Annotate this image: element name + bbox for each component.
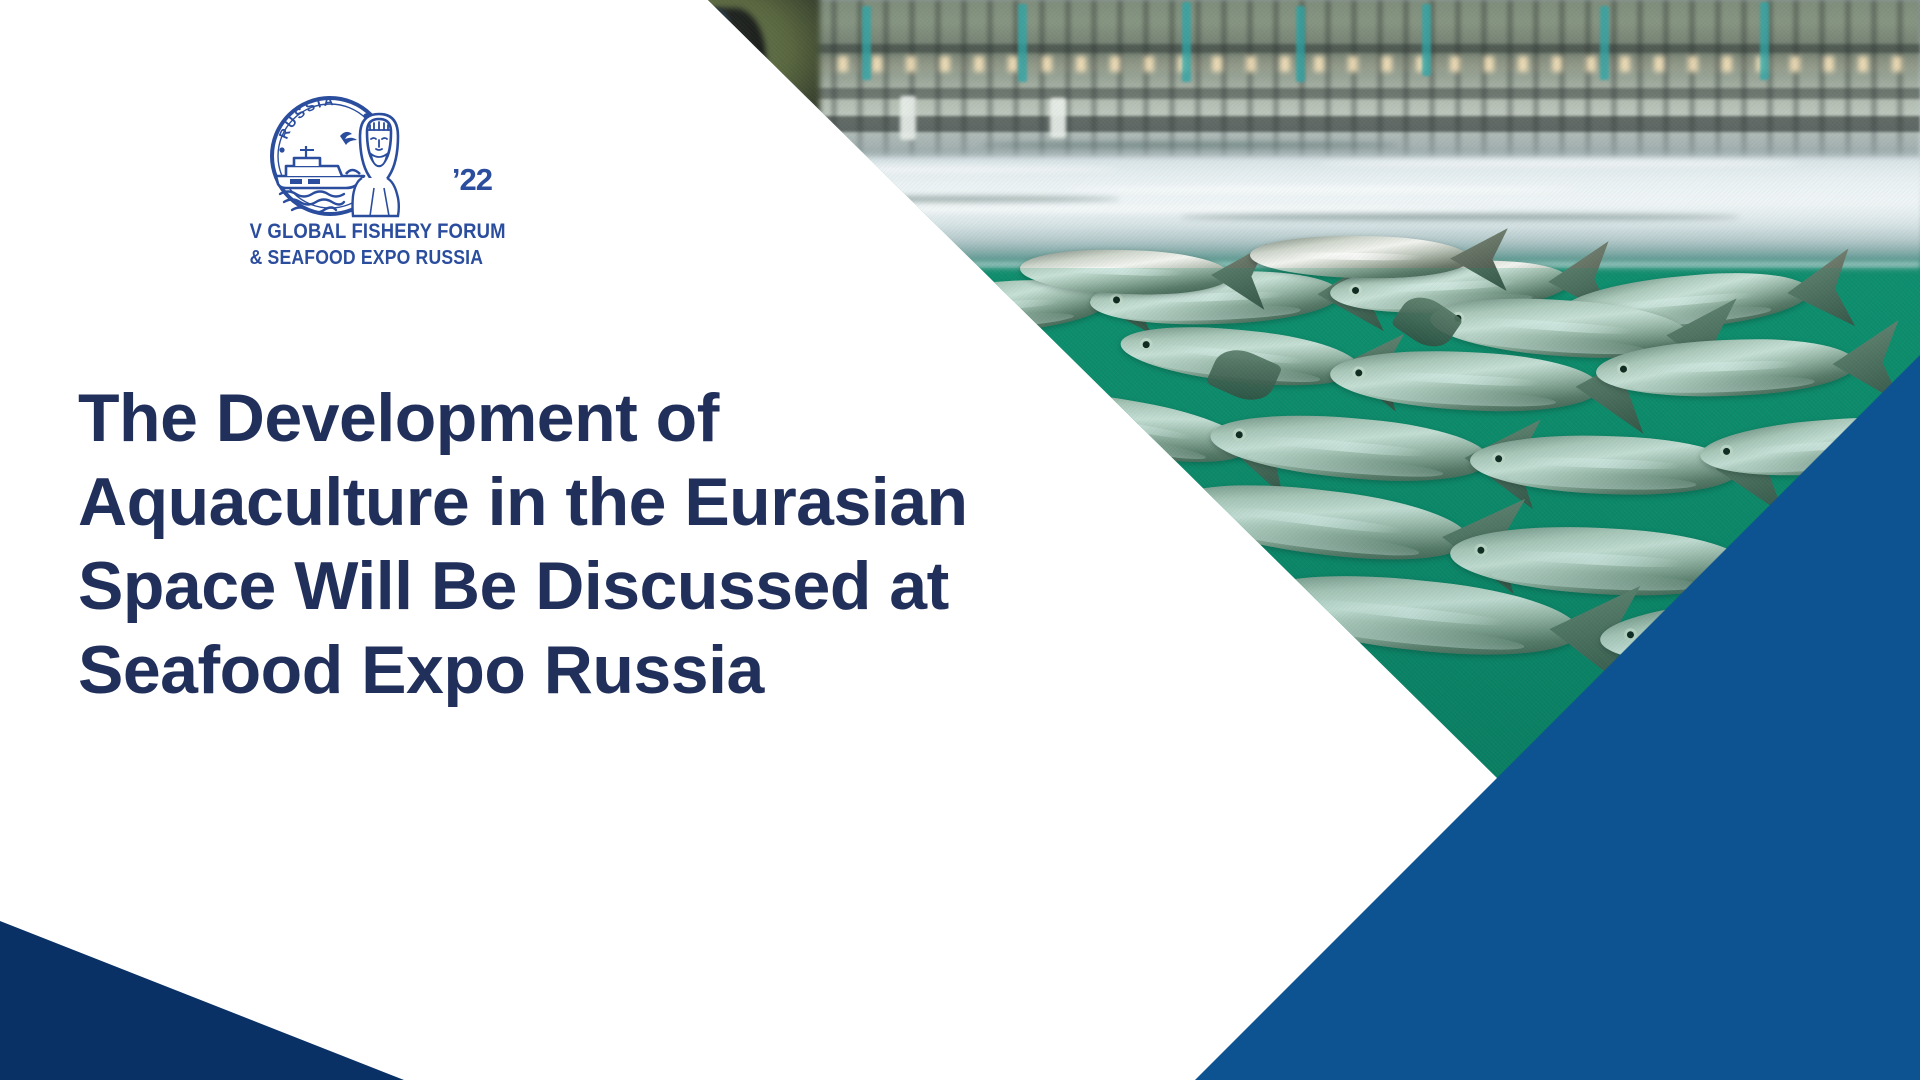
fishery-forum-emblem-icon: RUSSIA bbox=[234, 92, 444, 224]
white-post bbox=[1050, 98, 1066, 138]
fish-stripe bbox=[1058, 265, 1184, 276]
event-logo[interactable]: RUSSIA bbox=[234, 92, 494, 270]
logo-emblem: RUSSIA bbox=[234, 92, 494, 224]
white-post bbox=[900, 96, 916, 140]
fish-eye bbox=[1349, 284, 1363, 298]
fish-stripe bbox=[1379, 371, 1541, 389]
surface-ripple bbox=[820, 206, 1500, 213]
rail-post bbox=[1760, 2, 1769, 80]
logo-year-badge: ’22 bbox=[452, 162, 492, 198]
surface-ripple-dark bbox=[980, 142, 1400, 148]
surface-ripple bbox=[700, 166, 1120, 173]
surface-ripple bbox=[1060, 186, 1580, 193]
rail-post bbox=[1600, 6, 1609, 80]
fish-eye bbox=[1277, 589, 1291, 603]
fish-stripe bbox=[1290, 252, 1422, 261]
buoy-dark-body bbox=[688, 8, 766, 136]
rail-post bbox=[862, 6, 871, 80]
fish-eye bbox=[1617, 362, 1630, 375]
fish-eye bbox=[1624, 628, 1638, 642]
white-post bbox=[758, 84, 774, 140]
buoy-marker bbox=[672, 18, 686, 70]
fish-stripe bbox=[1504, 549, 1684, 569]
rail-post bbox=[1018, 4, 1027, 82]
dock-rail-bar bbox=[0, 44, 1920, 53]
surface-ripple-dark bbox=[760, 196, 1120, 202]
logo-title-line-2: & SEAFOOD EXPO RUSSIA bbox=[250, 247, 479, 270]
fish-belly bbox=[1032, 420, 1207, 464]
fish-eye bbox=[1139, 337, 1153, 351]
fish-eye bbox=[898, 305, 912, 319]
fish-eye bbox=[1195, 496, 1209, 510]
rail-post bbox=[1182, 2, 1191, 82]
rail-post bbox=[1296, 6, 1305, 82]
logo-title-line-1: V GLOBAL FISHERY FORUM bbox=[250, 220, 479, 244]
fish-stripe bbox=[1046, 408, 1195, 443]
buoy-hole bbox=[700, 8, 730, 38]
fish-stripe bbox=[1643, 360, 1799, 374]
fish-eye bbox=[1492, 452, 1505, 465]
page-title: The Development of Aquaculture in the Eu… bbox=[78, 376, 978, 712]
buoy-hole bbox=[672, 26, 696, 52]
rail-post bbox=[1422, 4, 1431, 76]
banner-canvas: RUSSIA bbox=[0, 0, 1920, 1080]
buoy-hole bbox=[668, 66, 692, 92]
fish-stripe bbox=[1519, 456, 1681, 471]
fish-fin bbox=[1080, 438, 1162, 507]
fish-eye bbox=[1021, 400, 1036, 415]
fish-eye bbox=[1233, 428, 1247, 442]
surface-ripple bbox=[1320, 160, 1800, 167]
surface-ripple-dark bbox=[1180, 214, 1740, 220]
fish-eye bbox=[1720, 445, 1734, 459]
fish-stripe bbox=[1310, 597, 1508, 629]
fish-eye bbox=[1352, 366, 1366, 380]
fish-eye bbox=[1474, 544, 1488, 558]
fish-eye bbox=[1110, 293, 1123, 306]
